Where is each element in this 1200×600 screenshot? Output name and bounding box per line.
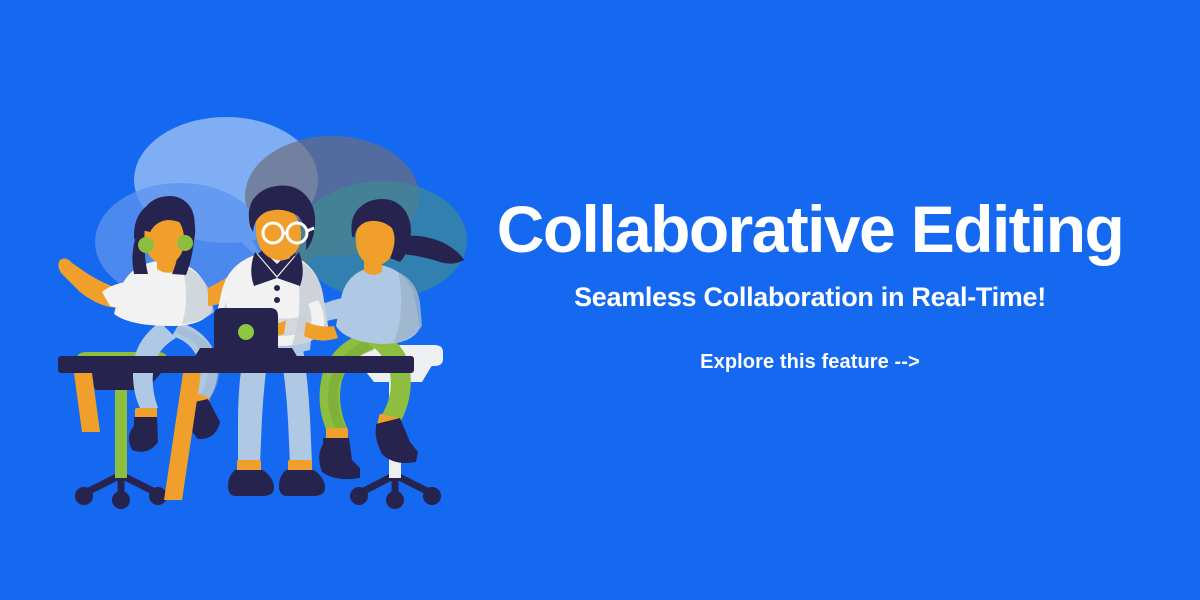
team-collaboration-illustration	[30, 60, 470, 510]
banner-text-block: Collaborative Editing Seamless Collabora…	[460, 195, 1160, 374]
laptop-logo-icon	[238, 324, 254, 340]
explore-feature-link[interactable]: Explore this feature -->	[700, 350, 920, 374]
banner-subtitle: Seamless Collaboration in Real-Time!	[460, 281, 1160, 313]
promo-banner: Collaborative Editing Seamless Collabora…	[0, 0, 1200, 600]
page-title: Collaborative Editing	[460, 195, 1160, 265]
